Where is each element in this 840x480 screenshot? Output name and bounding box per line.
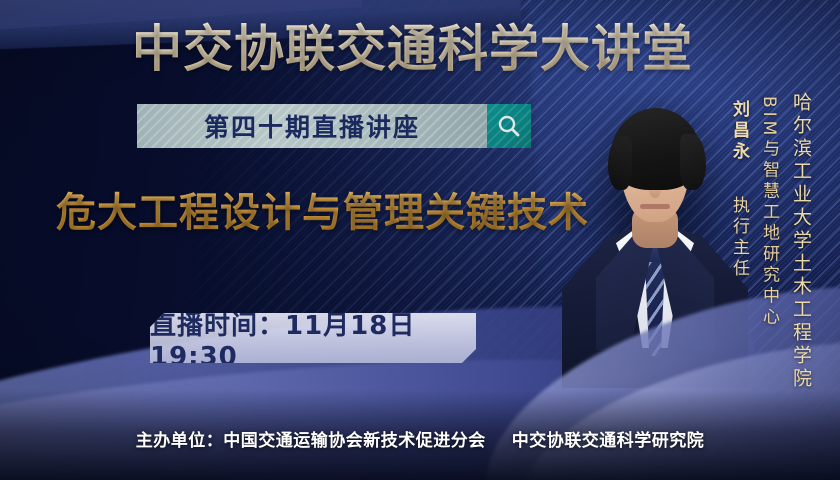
footer-organizers: 主办单位：中国交通运输协会新技术促进分会 中交协联交通科学研究院: [0, 424, 840, 452]
speaker-research-center: BIM与智慧工地研究中心: [757, 96, 784, 328]
organizer-label: 主办单位：中国交通运输协会新技术促进分会: [136, 426, 486, 451]
episode-banner-body: 第四十期直播讲座: [137, 104, 487, 148]
speaker-affiliation: 哈尔滨工业大学土木工程学院: [788, 92, 815, 391]
page-title: 中交协联交通科学大讲堂: [132, 18, 712, 80]
episode-label: 第四十期直播讲座: [204, 108, 420, 144]
portrait-hair-side-left: [608, 136, 632, 190]
speaker-name: 刘昌永: [727, 100, 752, 163]
live-time-text: 直播时间：11月18日19:30: [150, 305, 476, 372]
organizer-institute: 中交协联交通科学研究院: [512, 426, 705, 451]
research-center-name: 与智慧工地研究中心: [759, 139, 779, 328]
portrait-mouth: [640, 204, 670, 209]
search-icon[interactable]: [487, 104, 531, 148]
live-time-badge: 直播时间：11月18日19:30: [150, 313, 476, 363]
research-center-acronym: BIM: [759, 96, 779, 139]
lecture-headline: 危大工程设计与管理关键技术: [56, 188, 616, 238]
live-lecture-poster: 中交协联交通科学大讲堂 第四十期直播讲座 危大工程设计与管理关键技术 直播时间：…: [0, 0, 840, 480]
speaker-role: 执行主任: [727, 196, 752, 280]
episode-banner: 第四十期直播讲座: [137, 104, 531, 148]
